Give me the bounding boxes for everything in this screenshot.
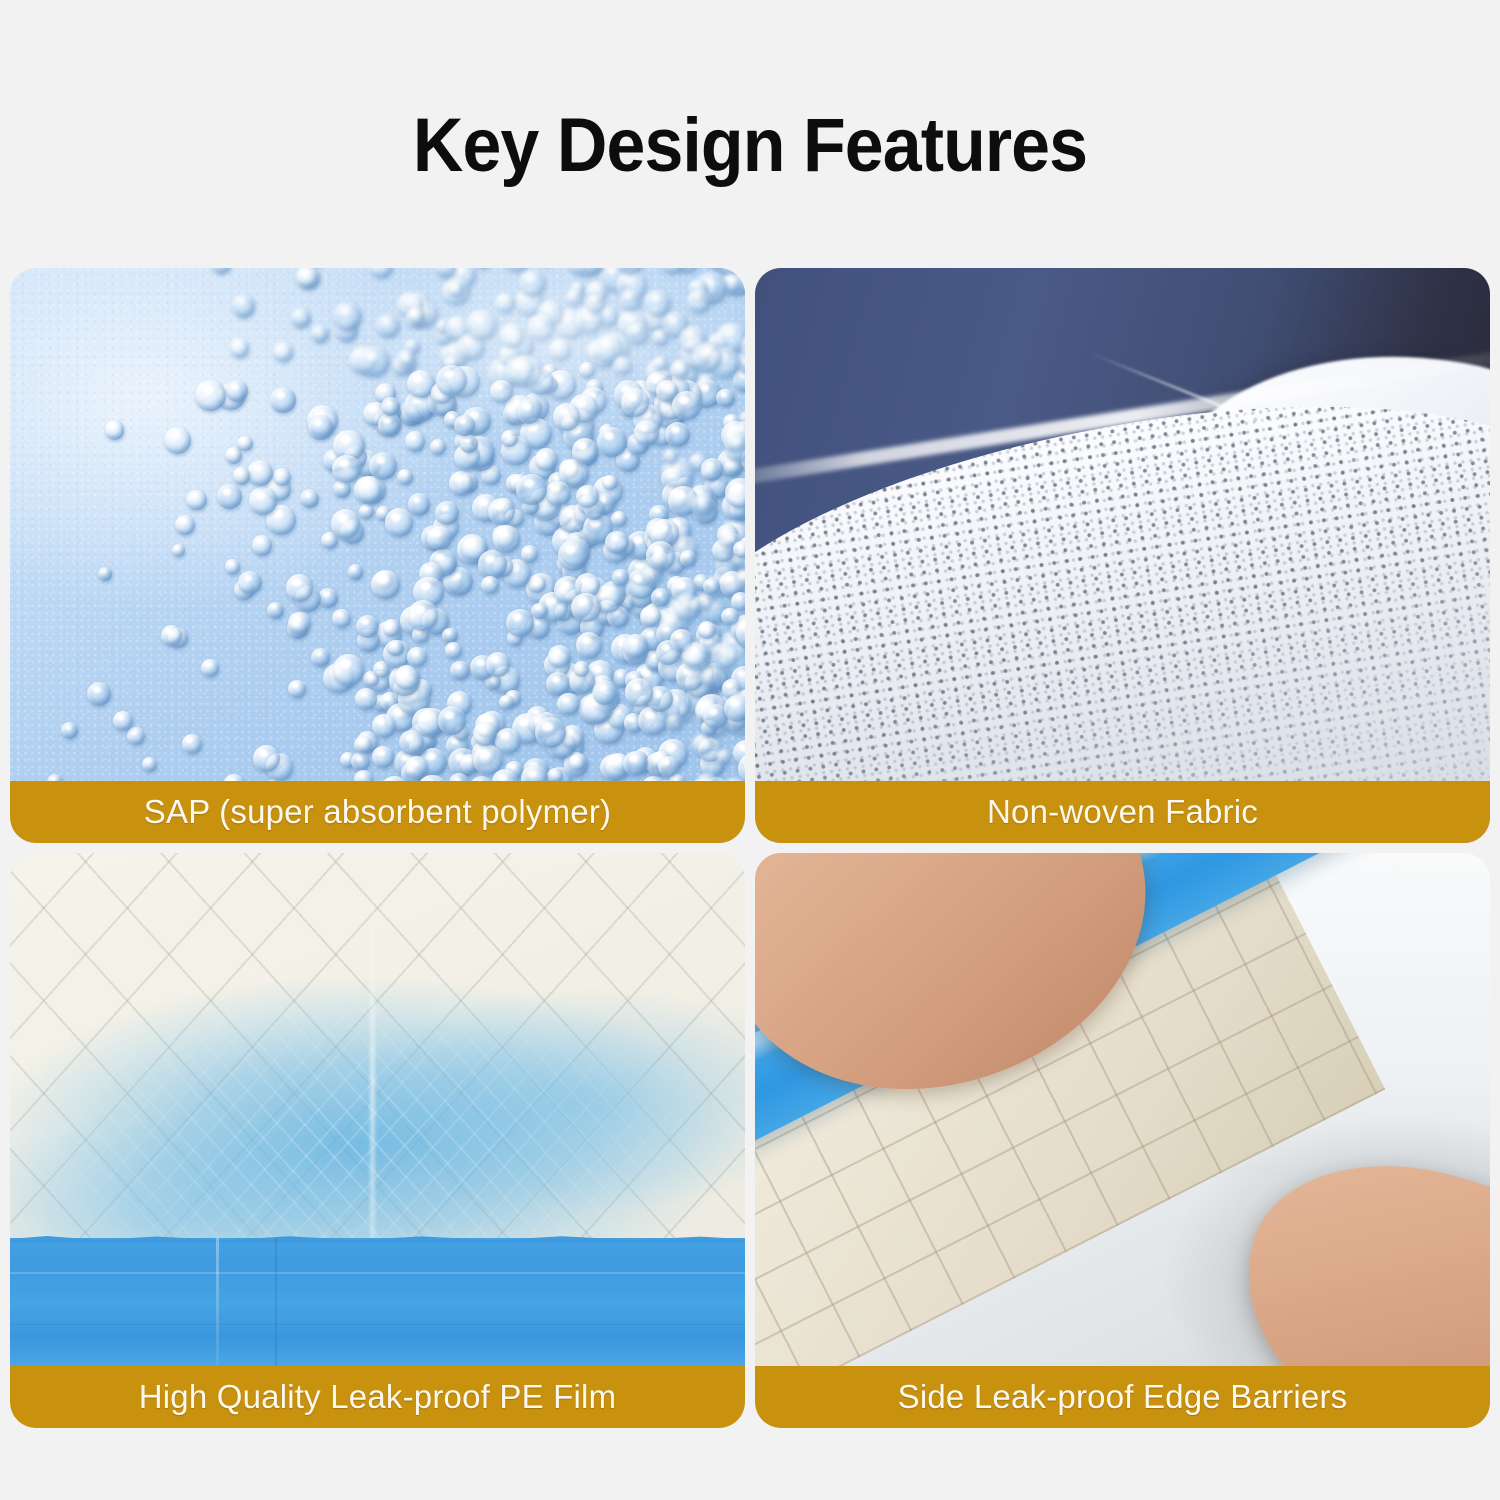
- sap-bead: [113, 711, 133, 731]
- sap-bead: [506, 609, 534, 637]
- sap-bead: [499, 695, 514, 710]
- sap-bead: [252, 535, 273, 556]
- pe-blue-film-strip: [10, 1238, 745, 1366]
- caption-sap: SAP (super absorbent polymer): [10, 781, 745, 843]
- sap-bead: [217, 484, 242, 509]
- sap-bead: [332, 609, 351, 628]
- sap-bead: [296, 268, 318, 288]
- sap-bead: [656, 640, 681, 665]
- sap-bead: [286, 574, 314, 602]
- sap-bead: [127, 727, 145, 745]
- sap-bead: [450, 661, 470, 681]
- sap-bead: [237, 436, 252, 451]
- sap-bead: [703, 578, 720, 595]
- pe-strip-fold-right: [275, 1238, 277, 1366]
- sap-bead: [249, 487, 276, 514]
- sap-bead: [557, 693, 579, 715]
- sap-bead: [435, 501, 459, 525]
- sap-bead: [721, 608, 738, 625]
- sap-bead: [87, 682, 111, 706]
- sap-bead: [175, 515, 195, 535]
- sap-bead: [521, 545, 539, 563]
- sap-bead: [493, 525, 520, 552]
- sap-bead: [332, 455, 361, 484]
- sap-bead: [611, 511, 627, 527]
- pe-center-crease: [370, 865, 375, 1302]
- sap-bead: [528, 575, 546, 593]
- sap-bead: [273, 342, 293, 362]
- sap-bead: [300, 489, 319, 508]
- page-title: Key Design Features: [60, 108, 1440, 184]
- sap-bead: [408, 493, 430, 515]
- sap-bead: [733, 541, 745, 558]
- sap-bead: [545, 481, 571, 507]
- sap-bead: [711, 642, 737, 668]
- pe-strip-creases: [10, 1238, 745, 1366]
- sap-bead: [612, 569, 628, 585]
- sap-bead: [387, 640, 403, 656]
- sap-bead: [535, 448, 557, 470]
- sap-bead: [646, 541, 676, 571]
- sap-bead: [716, 749, 731, 764]
- sap-bead: [311, 648, 330, 667]
- sap-bead: [666, 714, 683, 731]
- sap-bead: [371, 570, 400, 599]
- caption-edge-barriers: Side Leak-proof Edge Barriers: [755, 1366, 1490, 1428]
- sap-bead: [449, 471, 473, 495]
- sap-bead: [488, 498, 515, 525]
- feature-card-pe-film[interactable]: High Quality Leak-proof PE Film: [10, 853, 745, 1428]
- sap-bead: [574, 661, 590, 677]
- sap-bead: [407, 647, 427, 667]
- sap-bead: [369, 452, 397, 480]
- sap-bead: [182, 734, 202, 754]
- sap-bead: [572, 438, 598, 464]
- sap-bead: [308, 415, 332, 439]
- sap-bead: [558, 540, 588, 570]
- sap-bead: [186, 490, 206, 510]
- sap-bead: [348, 564, 363, 579]
- sap-bead: [481, 576, 499, 594]
- sap-bead: [195, 380, 226, 411]
- sap-bead: [674, 594, 701, 621]
- sap-bead: [692, 734, 713, 755]
- sap-bead: [372, 714, 396, 738]
- sap-bead: [535, 717, 566, 748]
- sap-bead: [698, 621, 716, 639]
- infographic-page: Key Design Features SAP (super absorbent…: [0, 0, 1500, 1500]
- sap-bead: [311, 325, 329, 343]
- sap-bead: [531, 603, 547, 619]
- sap-bead: [683, 643, 710, 670]
- sap-bead: [395, 665, 419, 689]
- sap-bead: [486, 652, 510, 676]
- sap-bead: [359, 504, 374, 519]
- sap-bead: [172, 544, 185, 557]
- sap-bead: [724, 695, 745, 722]
- sap-bead: [267, 602, 284, 619]
- sap-bead: [105, 420, 124, 439]
- sap-bead: [445, 642, 462, 659]
- sap-bead: [408, 600, 438, 630]
- sap-bead: [270, 387, 297, 414]
- sap-bead: [288, 680, 306, 698]
- pe-film-photo: [10, 853, 745, 1428]
- sap-bead: [700, 668, 719, 687]
- sap-bead: [161, 625, 182, 646]
- sap-bead: [232, 294, 256, 318]
- sap-bead: [625, 678, 654, 707]
- sap-bead: [225, 559, 240, 574]
- sap-bead: [576, 632, 603, 659]
- sap-bead: [351, 752, 370, 771]
- sap-bead: [569, 754, 586, 771]
- sap-bead: [356, 615, 379, 638]
- sap-highlight-haze: [348, 268, 745, 441]
- sap-bead: [701, 464, 718, 481]
- sap-bead: [288, 612, 311, 635]
- sap-bead: [571, 593, 601, 623]
- sap-bead: [427, 526, 451, 550]
- sap-bead: [602, 475, 617, 490]
- sap-bead: [651, 588, 670, 607]
- sap-bead: [605, 531, 628, 554]
- sap-bead: [142, 757, 157, 772]
- feature-grid: SAP (super absorbent polymer) Non-woven …: [10, 268, 1490, 1428]
- sap-photo: [10, 268, 745, 843]
- sap-bead: [593, 680, 617, 704]
- sap-bead: [548, 645, 571, 668]
- sap-bead: [737, 570, 745, 585]
- sap-bead: [98, 567, 112, 581]
- feature-card-sap[interactable]: SAP (super absorbent polymer): [10, 268, 745, 843]
- non-woven-fabric-photo: [755, 268, 1490, 843]
- caption-pe-film: High Quality Leak-proof PE Film: [10, 1366, 745, 1428]
- sap-bead: [230, 338, 249, 357]
- sap-bead: [385, 508, 414, 537]
- sap-bead: [658, 756, 679, 777]
- sap-bead: [318, 588, 338, 608]
- sap-bead: [233, 467, 251, 485]
- sap-bead: [253, 745, 280, 772]
- sap-bead: [201, 659, 219, 677]
- edge-barriers-photo: [755, 853, 1490, 1428]
- sap-bead: [442, 628, 457, 643]
- feature-card-non-woven-fabric[interactable]: Non-woven Fabric: [755, 268, 1490, 843]
- sap-bead: [473, 722, 497, 746]
- sap-bead: [238, 571, 261, 594]
- sap-bead: [61, 722, 78, 739]
- sap-bead: [383, 619, 400, 636]
- sap-bead: [516, 474, 547, 505]
- sap-bead: [430, 439, 446, 455]
- caption-non-woven-fabric: Non-woven Fabric: [755, 781, 1490, 843]
- sap-bead: [354, 476, 382, 504]
- sap-bead: [576, 485, 599, 508]
- sap-bead: [211, 268, 231, 274]
- sap-bead: [291, 308, 311, 328]
- feature-card-edge-barriers[interactable]: Side Leak-proof Edge Barriers: [755, 853, 1490, 1428]
- sap-bead: [397, 469, 413, 485]
- sap-bead: [333, 654, 364, 685]
- sap-bead: [164, 427, 191, 454]
- pe-strip-fold-left: [216, 1238, 219, 1366]
- sap-bead: [372, 746, 393, 767]
- sap-bead: [680, 550, 697, 567]
